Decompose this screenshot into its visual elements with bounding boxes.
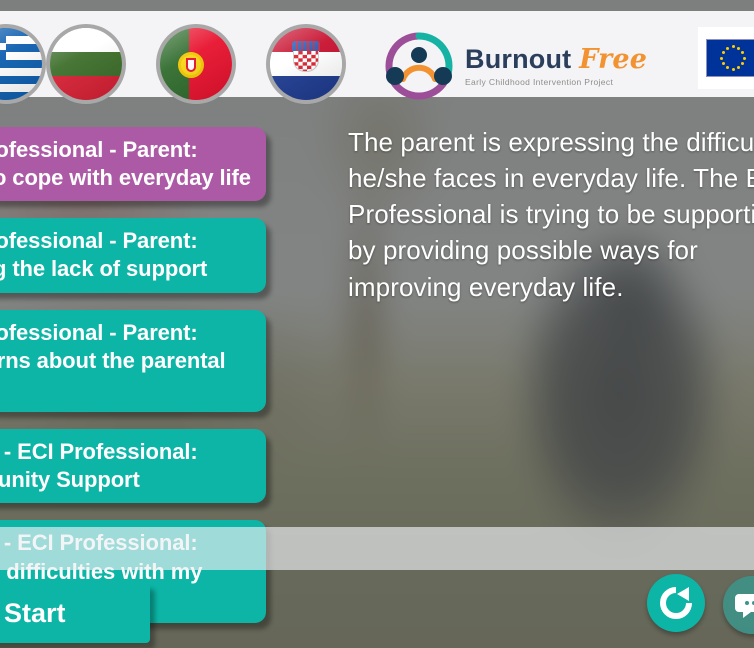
- app-root: Burnout Free Early Childhood Interventio…: [0, 0, 754, 648]
- scenario-button-2[interactable]: ECI Professional - Parent: Feeling the l…: [0, 218, 266, 292]
- header-bar: Burnout Free Early Childhood Interventio…: [0, 11, 754, 97]
- eu-star-icon: [726, 47, 729, 50]
- flag-sheen: [160, 28, 232, 100]
- scenario-label: ECI Professional - Parent: Feeling the l…: [0, 227, 252, 283]
- scenario-label: ECI Professional - Parent: Concerns abou…: [0, 319, 252, 403]
- eu-star-icon: [743, 57, 746, 60]
- flag-croatia[interactable]: [270, 28, 342, 100]
- eu-star-icon: [722, 51, 725, 54]
- burnout-free-logo[interactable]: Burnout Free Early Childhood Interventio…: [383, 31, 647, 101]
- scenario-button-1[interactable]: ECI Professional - Parent: Hard to cope …: [0, 127, 266, 201]
- scenario-button-3[interactable]: ECI Professional - Parent: Concerns abou…: [0, 310, 266, 412]
- eu-star-icon: [741, 51, 744, 54]
- chat-bubble-glyph: [735, 590, 754, 620]
- footer-divider-strip: [0, 527, 754, 570]
- refresh-glyph: [658, 585, 694, 621]
- eu-star-icon: [737, 47, 740, 50]
- flag-portugal[interactable]: [160, 28, 232, 100]
- start-button[interactable]: Start: [0, 583, 150, 643]
- logo-word-primary: Burnout: [465, 44, 571, 74]
- logo-tagline: Early Childhood Intervention Project: [465, 78, 647, 87]
- logo-mark-icon: [383, 31, 455, 101]
- eu-star-icon: [737, 66, 740, 69]
- refresh-icon[interactable]: [647, 574, 705, 632]
- eu-star-icon: [726, 66, 729, 69]
- eu-star-icon: [732, 68, 735, 71]
- scenario-button-4[interactable]: Parent - ECI Professional: Community Sup…: [0, 429, 266, 503]
- start-button-label: Start: [4, 598, 66, 629]
- eu-flag-field: [706, 39, 754, 77]
- scenario-label: Parent - ECI Professional: Community Sup…: [0, 438, 252, 494]
- flag-greece[interactable]: [0, 28, 42, 100]
- logo-word-secondary: Free: [579, 44, 647, 75]
- eu-star-icon: [741, 62, 744, 65]
- scenario-label: ECI Professional - Parent: Hard to cope …: [0, 136, 252, 192]
- scenario-description: The parent is expressing the difficultie…: [348, 124, 754, 305]
- eu-flag: [698, 27, 754, 89]
- flag-sheen: [270, 28, 342, 100]
- flag-sheen: [0, 28, 42, 100]
- eu-star-icon: [720, 57, 723, 60]
- flag-bulgaria[interactable]: [50, 28, 122, 100]
- eu-star-icon: [732, 45, 735, 48]
- eu-star-icon: [722, 62, 725, 65]
- flag-sheen: [50, 28, 122, 100]
